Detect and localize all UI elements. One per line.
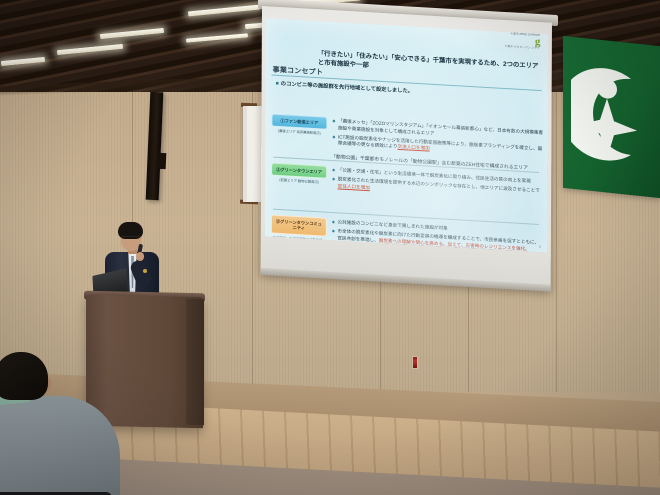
slide-section-row: ③グリーンタウンコミュニティ (市有施設・市内店舗等の対象施設・一部コンビニ等)… <box>271 215 543 253</box>
section-badge-blue: ①ファン創造エリア <box>271 114 327 130</box>
bullet-dot-icon: ◆ <box>332 228 335 241</box>
audience-head <box>0 352 48 400</box>
wall-speaker-mount <box>158 153 167 169</box>
slide-logo: g 千葉市 ゼロカーボン シティ <box>505 34 540 51</box>
bullet-highlight: 定住人口を増加 <box>338 183 370 190</box>
slide-lead-text: ■のコンビニ等の施設群を先行地域として設定しました。 <box>276 81 542 104</box>
bullet-dot-icon: ◆ <box>332 176 335 189</box>
bullet-dot-icon: ◆ <box>332 219 335 226</box>
bullet-dot-icon: ◆ <box>332 134 335 147</box>
section-badge-column: ①ファン創造エリア (幕張エリア 海浜幕張駅周辺) <box>271 114 327 150</box>
lapel-pin-icon <box>143 269 147 273</box>
screen-surface: 千葉市 ZERO CARBON g 千葉市 ゼロカーボン シティ 「行きたい」「… <box>261 6 552 291</box>
bullet-highlight: 交流人口を増加 <box>398 144 430 151</box>
audience-body <box>0 396 120 495</box>
section-badge-sub: (市有施設・市内店舗等の対象施設・一部コンビニ等) <box>271 235 327 247</box>
chiba-city-emblem-icon <box>571 59 649 171</box>
section-badge-column: ②グリーンタウンエリア (若葉エリア 動物公園周辺) <box>271 163 327 192</box>
audience-member <box>0 352 127 495</box>
podium-side-panel <box>186 299 204 425</box>
slide-lead-value: のコンビニ等の施設群を先行地域として設定しました。 <box>281 81 413 95</box>
chiba-city-flag <box>563 36 660 198</box>
section-badge-column: ③グリーンタウンコミュニティ (市有施設・市内店舗等の対象施設・一部コンビニ等) <box>271 215 327 247</box>
projector-screen: 千葉市 ZERO CARBON g 千葉市 ゼロカーボン シティ 「行きたい」「… <box>261 6 552 308</box>
slide-headline: 「行きたい」「住みたい」「安心できる」千葉市を実現するため、2つのエリアと市有施… <box>318 50 544 80</box>
projected-slide: 千葉市 ZERO CARBON g 千葉市 ゼロカーボン シティ 「行きたい」「… <box>265 18 548 252</box>
slide-page-number: 5 <box>539 245 541 249</box>
bullet-dot-icon: ◆ <box>332 118 335 131</box>
glasses-icon <box>121 236 141 240</box>
flag-hem <box>243 106 247 202</box>
slide-section-row: ①ファン創造エリア (幕張エリア 海浜幕張駅周辺) ◆ 「幕張メッセ」「ZOZO… <box>271 114 543 162</box>
bullet-dot-icon: ◆ <box>332 167 335 174</box>
section-badge-green: ②グリーンタウンエリア <box>271 163 327 179</box>
section-bullets: ◆ 「幕張メッセ」「ZOZOマリンスタジアム」「イオンモール幕張新都心」など、日… <box>332 117 543 162</box>
bullet-marker-icon: ■ <box>276 81 279 87</box>
slide-logo-subtitle: 千葉市 ゼロカーボン シティ <box>505 46 540 51</box>
section-badge-orange: ③グリーンタウンコミュニティ <box>271 215 327 237</box>
auditorium-photo: 千葉市 ZERO CARBON g 千葉市 ゼロカーボン シティ 「行きたい」「… <box>0 0 660 495</box>
fire-alarm-icon <box>412 356 418 369</box>
wall-panel-seam <box>556 92 557 392</box>
presenter-hand <box>136 252 144 261</box>
section-badge-sub: (若葉エリア 動物公園周辺) <box>271 178 327 186</box>
section-badge-sub: (幕張エリア 海浜幕張駅周辺) <box>271 129 327 137</box>
